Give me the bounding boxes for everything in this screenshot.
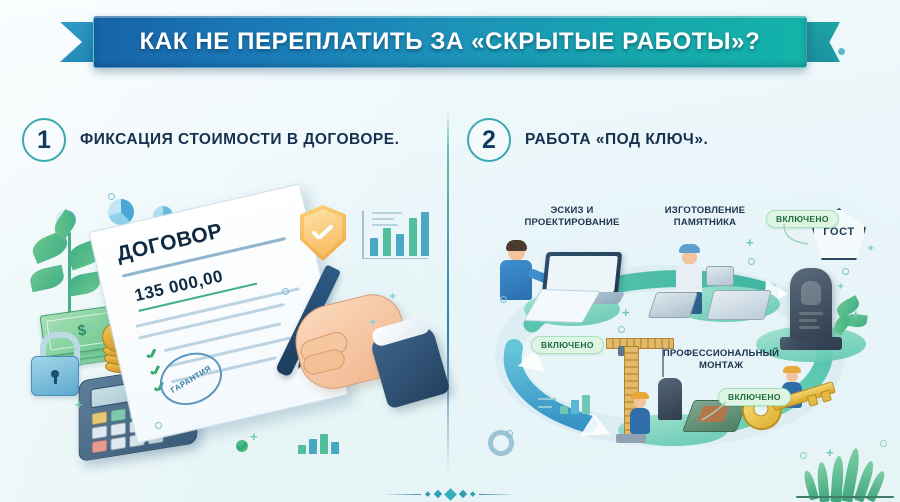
section-header-2: 2 РАБОТА «ПОД КЛЮЧ». xyxy=(467,118,708,162)
stone-block xyxy=(706,266,734,286)
banner-title: КАК НЕ ПЕРЕПЛАТИТЬ ЗА «СКРЫТЫЕ РАБОТЫ»? xyxy=(140,28,761,56)
pie-chart-icon xyxy=(108,199,134,225)
shield-checkmark-icon xyxy=(311,226,335,240)
stage-label-1: ЭСКИЗ И ПРОЕКТИРОВАНИЕ xyxy=(512,205,632,229)
granite-slab xyxy=(706,290,771,320)
badge-leader-line xyxy=(700,400,730,424)
deco-dot xyxy=(108,193,115,200)
banner: КАК НЕ ПЕРЕПЛАТИТЬ ЗА «СКРЫТЫЕ РАБОТЫ»? xyxy=(0,10,900,74)
small-monument xyxy=(658,378,682,420)
deco-dot xyxy=(800,452,807,459)
gravestone-monument-icon xyxy=(790,268,832,340)
section-title-1: ФИКСАЦИЯ СТОИМОСТИ В ДОГОВОРЕ. xyxy=(80,131,399,149)
stamp-text: ГАРАНТИЯ xyxy=(169,363,213,394)
section-header-1: 1 ФИКСАЦИЯ СТОИМОСТИ В ДОГОВОРЕ. xyxy=(22,118,399,162)
deco-dot xyxy=(880,440,887,447)
bar-chart-icon xyxy=(366,210,428,256)
stage-label-3: ПРОФЕССИОНАЛЬНЫЙ МОНТАЖ xyxy=(646,348,796,372)
checkmark-icon xyxy=(145,347,158,360)
stage-label-2: ИЗГОТОВЛЕНИЕ ПАМЯТНИКА xyxy=(640,205,770,229)
included-badge-design: ВКЛЮЧЕНО xyxy=(531,336,604,354)
panel-divider xyxy=(447,112,449,474)
granite-slab xyxy=(648,292,698,318)
deco-dot xyxy=(506,430,513,437)
deco-dot xyxy=(842,268,849,275)
section-number-1: 1 xyxy=(22,118,66,162)
badge-leader-line xyxy=(780,222,814,248)
checkmark-icon xyxy=(237,441,248,452)
ribbon-banner: КАК НЕ ПЕРЕПЛАТИТЬ ЗА «СКРЫТЫЕ РАБОТЫ»? xyxy=(93,16,807,68)
deco-dot xyxy=(500,296,507,303)
footer-divider xyxy=(380,488,520,500)
deco-dot xyxy=(84,324,91,331)
section-title-2: РАБОТА «ПОД КЛЮЧ». xyxy=(525,131,708,149)
infographic-canvas: КАК НЕ ПЕРЕПЛАТИТЬ ЗА «СКРЫТЫЕ РАБОТЫ»? … xyxy=(0,0,900,502)
section-number-2: 2 xyxy=(467,118,511,162)
mini-bar-chart-icon xyxy=(558,392,598,414)
mini-bar-chart-icon xyxy=(296,430,342,454)
deco-dot xyxy=(282,288,289,295)
banner-dot-right xyxy=(838,48,845,55)
deco-dot xyxy=(618,326,625,333)
deco-dot xyxy=(155,422,162,429)
deco-dot xyxy=(748,258,755,265)
document-title: ДОГОВОР xyxy=(115,219,225,267)
